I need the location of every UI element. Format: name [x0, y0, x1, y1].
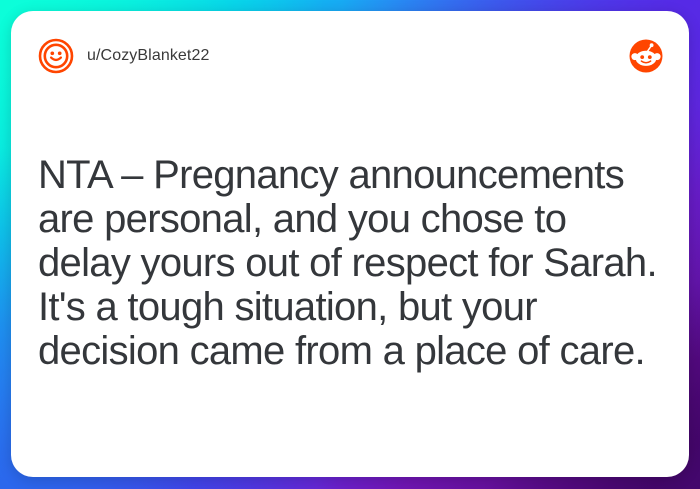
- post-body-text: NTA – Pregnancy announcements are person…: [38, 153, 666, 373]
- avatar[interactable]: [38, 38, 74, 74]
- card-header: u/CozyBlanket22: [11, 11, 689, 101]
- username-label: u/CozyBlanket22: [87, 47, 209, 65]
- reddit-comment-card: u/CozyBlanket22: [11, 11, 689, 477]
- reddit-snoo-icon[interactable]: [628, 38, 664, 74]
- screenshot-canvas: u/CozyBlanket22: [0, 0, 700, 489]
